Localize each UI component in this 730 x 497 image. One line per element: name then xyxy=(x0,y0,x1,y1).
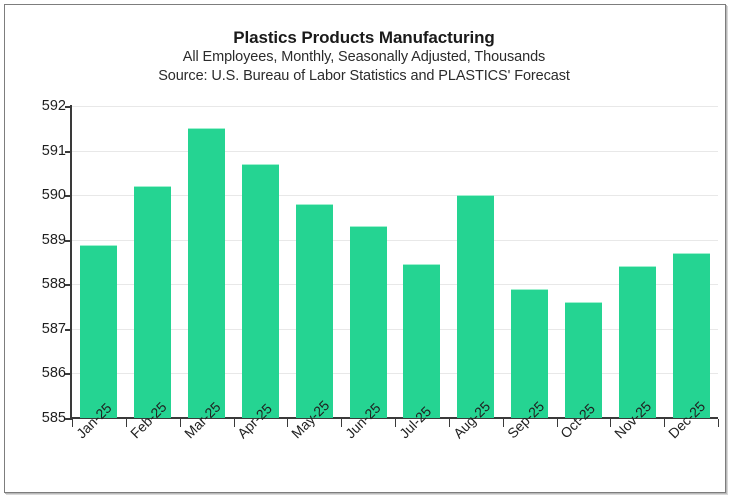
x-axis-label-Jun-25: Jun-25 xyxy=(342,400,384,442)
x-axis-tick-7 xyxy=(449,419,450,427)
chart-canvas: Plastics Products Manufacturing All Empl… xyxy=(5,5,725,492)
x-axis-label-Apr-25: Apr-25 xyxy=(234,400,275,441)
x-axis-tick-12 xyxy=(718,419,719,427)
x-axis-label-Aug-25: Aug-25 xyxy=(450,398,493,441)
x-axis-tick-2 xyxy=(180,419,181,427)
chart-frame: Plastics Products Manufacturing All Empl… xyxy=(4,4,726,493)
x-axis-label-Dec-25: Dec-25 xyxy=(665,398,708,441)
x-axis-tick-8 xyxy=(503,419,504,427)
x-axis-tick-0 xyxy=(72,419,73,427)
x-axis-label-Mar-25: Mar-25 xyxy=(181,399,224,442)
x-axis-tick-6 xyxy=(395,419,396,427)
x-axis-tick-1 xyxy=(126,419,127,427)
x-axis-ticks: Jan-25Feb-25Mar-25Apr-25May-25Jun-25Jul-… xyxy=(6,6,725,492)
x-axis-tick-3 xyxy=(234,419,235,427)
x-axis-label-Oct-25: Oct-25 xyxy=(557,400,598,441)
x-axis-label-Jul-25: Jul-25 xyxy=(396,403,434,441)
x-axis-label-Nov-25: Nov-25 xyxy=(611,398,654,441)
x-axis-label-Jan-25: Jan-25 xyxy=(73,400,115,442)
x-axis-tick-11 xyxy=(664,419,665,427)
x-axis-tick-10 xyxy=(610,419,611,427)
x-axis-tick-4 xyxy=(287,419,288,427)
x-axis-tick-5 xyxy=(341,419,342,427)
x-axis-label-Sep-25: Sep-25 xyxy=(504,398,547,441)
x-axis-label-May-25: May-25 xyxy=(288,397,332,441)
x-axis-tick-9 xyxy=(557,419,558,427)
x-axis-label-Feb-25: Feb-25 xyxy=(127,399,170,442)
